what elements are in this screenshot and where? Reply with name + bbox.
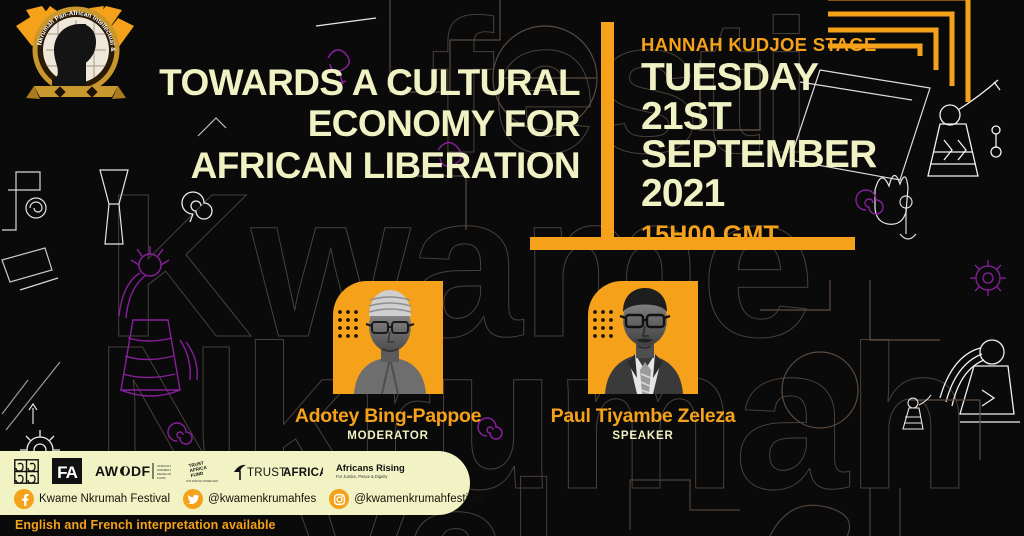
svg-text:FA: FA [57,463,77,482]
event-date: 21ST [641,98,1011,137]
event-day: TUESDAY [641,59,1011,98]
partner-logo-awdf[interactable]: AW DF AFRICAN WOMEN'S DEVELOPMENT FUND [95,458,171,484]
partner-logo-adinkra-mark[interactable] [14,458,39,484]
social-handle: @kwamenkrumahfes [208,493,316,505]
title-line-1: TOWARDS A CULTURAL [120,62,580,103]
partner-logo-fa[interactable]: FA [52,458,82,484]
partner-logo-trustafrica[interactable]: TRUST AFRICA [231,458,323,484]
portrait-adotey-bing-pappoe [350,282,430,394]
event-year: 2021 [641,175,1011,214]
social-facebook[interactable]: Kwame Nkrumah Festival [14,489,170,509]
dancer-figure-purple [88,240,208,430]
speaker-card-moderator: Adotey Bing-Pappoe MODERATOR [272,281,504,442]
speaker-role: MODERATOR [272,430,504,442]
interpretation-note: English and French interpretation availa… [15,518,276,532]
svg-text:Africans Rising: Africans Rising [336,462,405,473]
social-links: Kwame Nkrumah Festival @kwamenkrumahfes [14,487,489,511]
svg-text:For Justice, Peace & Dignity: For Justice, Peace & Dignity [336,474,388,479]
social-handle: Kwame Nkrumah Festival [39,493,170,505]
small-dancer-figure [895,395,935,445]
portrait-paul-tiyambe-zeleza [605,282,685,394]
avatar [333,281,443,394]
svg-text:AW: AW [95,463,119,479]
title-line-3: AFRICAN LIBERATION [120,145,580,186]
instagram-icon [329,489,349,509]
social-instagram[interactable]: @kwamenkrumahfestival [329,489,483,509]
facebook-icon [14,489,34,509]
speaker-name: Paul Tiyambe Zeleza [527,405,759,428]
svg-text:FOR AFRICAN OWNED DEVELOPMENT: FOR AFRICAN OWNED DEVELOPMENT [186,480,218,483]
twitter-icon [183,489,203,509]
speaker-name: Adotey Bing-Pappoe [272,405,504,428]
event-month: SEPTEMBER [641,136,1011,175]
spiral-motif-purple-bottom [160,415,194,449]
social-handle: @kwamenkrumahfestival [354,493,483,505]
avatar [588,281,698,394]
partner-logos: FA AW DF AFRICAN WOMEN'S DEVELOPMENT FUN… [14,457,414,485]
partners-and-social-panel: FA AW DF AFRICAN WOMEN'S DEVELOPMENT FUN… [0,451,470,515]
divider-bar-vertical [601,22,614,250]
svg-text:DF: DF [131,463,151,479]
title-line-2: ECONOMY FOR [120,103,580,144]
stage-name: HANNAH KUDJOE STAGE [641,34,1011,56]
event-poster: festi Kwame Nkrumah val [0,0,1024,536]
adinkra-line-art-lower-right [760,280,1020,480]
social-twitter[interactable]: @kwamenkrumahfes [183,489,316,509]
speaker-card-speaker: Paul Tiyambe Zeleza SPEAKER [527,281,759,442]
event-time: 15H00 GMT [641,221,1011,250]
speaker-role: SPEAKER [527,430,759,442]
event-details: HANNAH KUDJOE STAGE TUESDAY 21ST SEPTEMB… [641,34,1011,250]
seated-figure-white [930,330,1024,460]
svg-text:FUND: FUND [157,476,166,480]
poster-title: TOWARDS A CULTURAL ECONOMY FOR AFRICAN L… [120,62,580,186]
svg-text:AFRICA: AFRICA [283,467,323,479]
svg-text:TRUST: TRUST [247,467,286,479]
adinkra-line-art-bottom [620,440,920,536]
adinkra-symbol-wheel [960,250,1016,306]
partner-logo-africans-rising[interactable]: Africans Rising For Justice, Peace & Dig… [336,458,414,484]
spiral-motif-white [170,180,216,226]
partner-logo-trust-africa-fund[interactable]: TRUST AFRICA FUND FOR AFRICAN OWNED DEVE… [184,458,218,484]
